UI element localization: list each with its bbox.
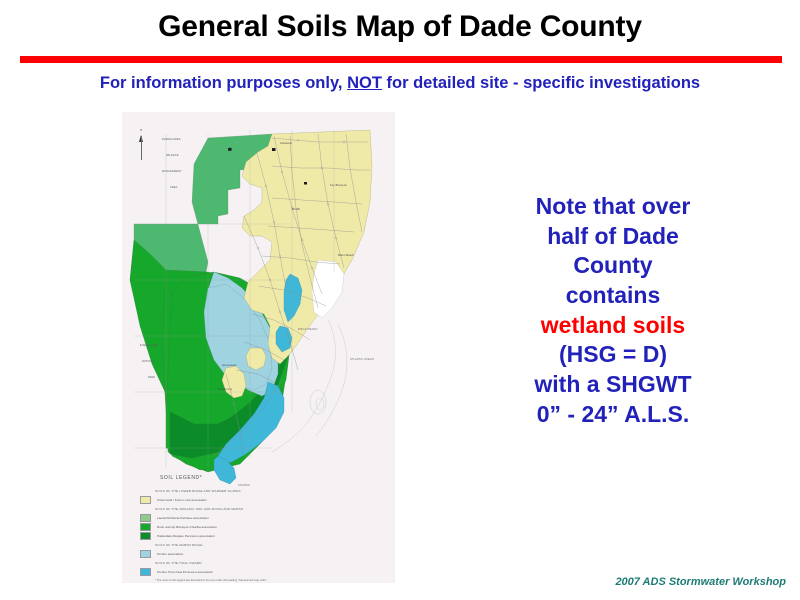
map-label-enp-3: PARK [148,376,155,379]
note-line-3: County [438,251,788,281]
legend-row: Lauderhill Dania Pahokee association [134,514,384,522]
title-divider-rule [20,56,782,63]
map-label-hialeah: HIALEAH [280,142,292,145]
soil-legend-list: SOILS OF THE LOWER RIDGE AND WARMER SLOP… [134,487,384,583]
map-label-homestead: Homestead [222,364,236,367]
legend-row: Perrine Terra Ceia Pennsuco association [134,568,384,576]
legend-row-label: Perrine Terra Ceia Pennsuco association [157,570,213,574]
note-line-shgwt: with a SHGWT [438,370,788,400]
page-title: General Soils Map of Dade County [0,10,800,44]
map-label-florida-city: Florida City [218,388,232,391]
map-note-callout: Note that over half of Dade County conta… [438,192,788,429]
legend-row: SOILS OF THE MARSH RIDGE [134,541,384,549]
legend-row-label: Hallandale Margate Pennsuco association [157,534,215,538]
legend-row: Hallandale Margate Pennsuco association [134,532,384,540]
legend-swatch-blank [140,560,149,566]
north-arrow-shaft [141,136,142,160]
legend-row-label: SOILS OF THE ORGANIC SOIL AND ROCKLAND M… [155,507,243,511]
footer-credit: 2007 ADS Stormwater Workshop [0,576,786,588]
legend-swatch-light-green [140,514,151,522]
legend-row-label: Urban land / Krome rock association [157,498,207,502]
legend-row-label: Rock outcrop Biscayne Chekika associatio… [157,525,217,529]
map-label-everglades-wma-3: MANAGEMENT [162,170,182,173]
legend-row: Urban land / Krome rock association [134,496,384,504]
page-subtitle: For information purposes only, NOT for d… [0,74,800,93]
subtitle-emphasis-not: NOT [347,74,382,92]
legend-row-label: SOILS OF THE LOWER RIDGE AND WARMER SLOP… [155,489,241,493]
note-line-2: half of Dade [438,222,788,252]
note-line-wetland-soils: wetland soils [438,311,788,341]
legend-swatch-blank [140,488,149,494]
soils-map-image: N EVERGLADES WILDLIFE MANAGEMENT AREA EV… [122,112,395,583]
note-line-4: contains [438,281,788,311]
map-label-miami: MIAMI [292,208,300,211]
note-line-depth: 0” - 24” A.L.S. [438,400,788,430]
map-label-everglades-wma-1: EVERGLADES [162,138,181,141]
legend-swatch-bright-green [140,523,151,531]
map-label-everglades-wma-2: WILDLIFE [166,154,179,157]
map-label-enp-2: NATIONAL [142,360,156,363]
subtitle-text-before: For information purposes only, [100,74,347,92]
legend-row-label: SOILS OF THE TIDAL SWAMP [155,561,202,565]
legend-swatch-blank [140,506,149,512]
legend-swatch-cyan [140,568,151,576]
note-line-hsg: (HSG = D) [438,340,788,370]
legend-swatch-blank [140,542,149,548]
legend-row: SOILS OF THE TIDAL SWAMP [134,559,384,567]
legend-swatch-dark-green [140,532,151,540]
legend-row-label: Perrine association [157,552,183,556]
legend-swatch-urban-yellow [140,496,151,504]
note-line-1: Note that over [438,192,788,222]
north-arrow-icon: N [138,130,146,160]
north-arrow-label: N [140,128,142,132]
legend-row-label: Lauderhill Dania Pahokee association [157,516,209,520]
legend-swatch-light-blue [140,550,151,558]
map-label-everglades-wma-4: AREA [170,186,177,189]
legend-row: Rock outcrop Biscayne Chekika associatio… [134,523,384,531]
map-label-atlantic: ATLANTIC OCEAN [350,358,374,361]
legend-row: SOILS OF THE ORGANIC SOIL AND ROCKLAND M… [134,505,384,513]
map-label-enp-1: EVERGLADES [140,344,159,347]
subtitle-text-after: for detailed site - specific investigati… [382,74,700,92]
legend-row-label: SOILS OF THE MARSH RIDGE [155,543,203,547]
map-label-biscayne-bay: BISCAYNE BAY [298,328,318,331]
map-label-miami-beach: Miami Beach [338,254,354,257]
legend-row: Perrine association [134,550,384,558]
legend-row: SOILS OF THE LOWER RIDGE AND WARMER SLOP… [134,487,384,495]
map-label-key-biscayne: Key Biscayne [330,184,347,187]
soil-legend-title: SOIL LEGEND* [160,475,202,481]
